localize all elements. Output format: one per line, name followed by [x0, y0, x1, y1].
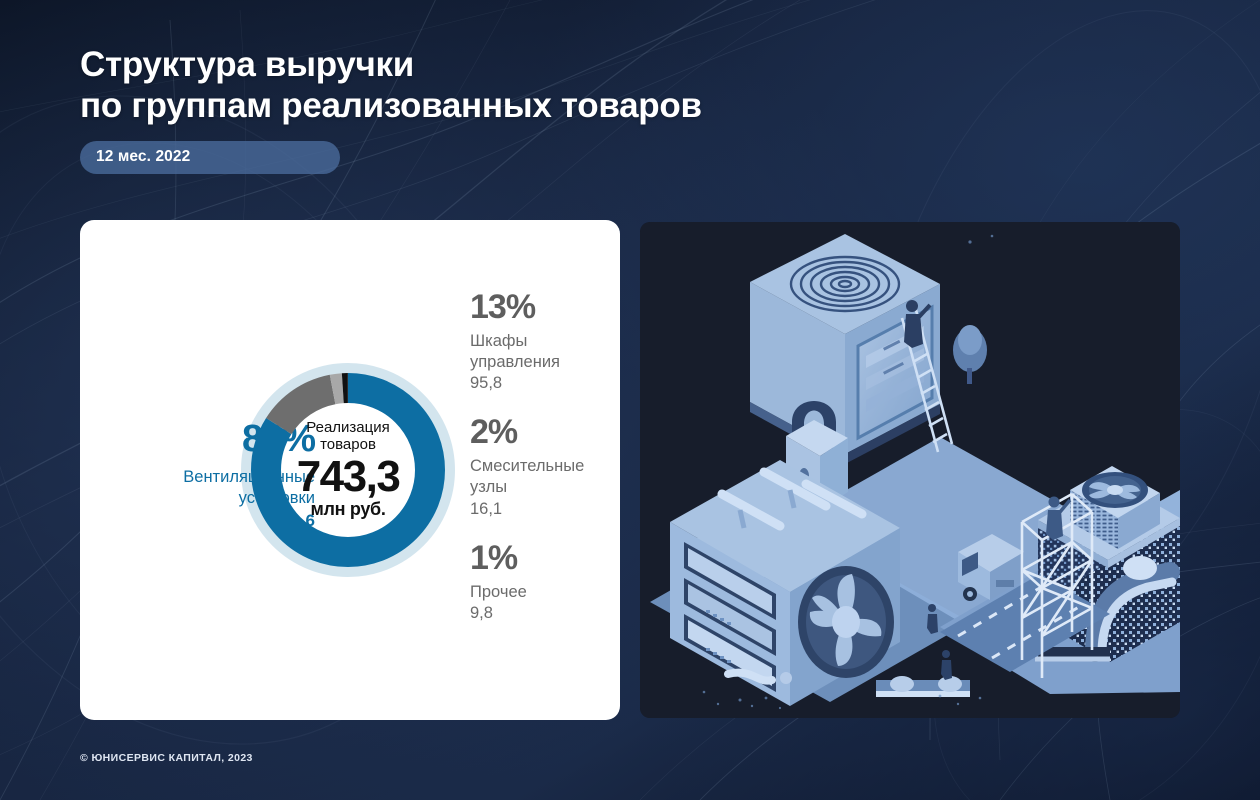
legend-value: 16,1 [470, 500, 630, 519]
legend-value: 9,8 [470, 604, 630, 623]
legend-percent: 1% [470, 541, 630, 575]
legend-percent: 13% [470, 290, 630, 324]
copyright-footer: © ЮНИСЕРВИС КАПИТАЛ, 2023 [80, 752, 253, 764]
chart-card: 84% Вентиляционные установки 621,6 [80, 220, 620, 720]
donut-chart: 84% Вентиляционные установки 621,6 [80, 220, 620, 720]
legend-item-mixing-units: 2% Смесительные узлы 16,1 [470, 415, 630, 518]
page-title-line-1: Структура выручки [80, 44, 702, 85]
header: Структура выручки по группам реализованн… [80, 44, 702, 174]
legend-item-cabinets: 13% Шкафы управления 95,8 [470, 290, 630, 393]
legend-value: 95,8 [470, 374, 630, 393]
legend-label: Смесительные узлы [470, 456, 630, 497]
illustration-panel [640, 222, 1180, 718]
legend-percent: 2% [470, 415, 630, 449]
legend-label: Прочее [470, 582, 630, 603]
page-title-line-2: по группам реализованных товаров [80, 85, 702, 126]
hvac-isometric-illustration [640, 222, 1180, 718]
donut-graphic: Реализация товаров 743,3 млн руб. [238, 360, 458, 580]
period-badge: 12 мес. 2022 [80, 141, 340, 174]
legend-right: 13% Шкафы управления 95,8 2% Смесительны… [470, 290, 630, 645]
legend-item-other: 1% Прочее 9,8 [470, 541, 630, 624]
legend-label: Шкафы управления [470, 331, 630, 372]
